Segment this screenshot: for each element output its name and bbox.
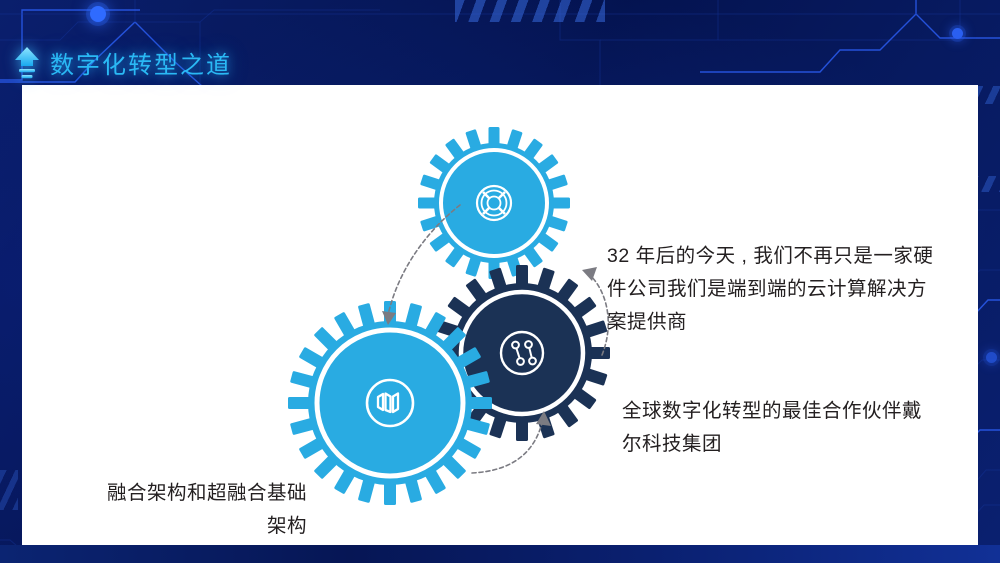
content-card: 32 年后的今天 , 我们不再只是一家硬件公司我们是端到端的云计算解决方案提供商… [22, 85, 978, 545]
node-dot-top-right [952, 28, 963, 39]
callout-text-top: 32 年后的今天 , 我们不再只是一家硬件公司我们是端到端的云计算解决方案提供商 [607, 240, 937, 339]
diagonal-stripes-top [455, 0, 605, 22]
node-dot-top-left [90, 6, 106, 22]
page-title: 数字化转型之道 [50, 45, 232, 80]
callout-text-middle: 全球数字化转型的最佳合作伙伴戴尔科技集团 [622, 395, 922, 461]
diagonal-stripes-left [0, 470, 18, 510]
node-dot-right-lower [986, 352, 997, 363]
slide-root: 数字化转型之道 [0, 0, 1000, 563]
callout-text-left: 融合架构和超融合基础架构 [107, 477, 307, 543]
slide-header: 数字化转型之道 [14, 45, 232, 80]
upload-arrow-icon [14, 46, 40, 80]
gear-bottom [288, 301, 492, 505]
gear-top [418, 127, 570, 279]
bottom-accent-strip [0, 545, 1000, 563]
